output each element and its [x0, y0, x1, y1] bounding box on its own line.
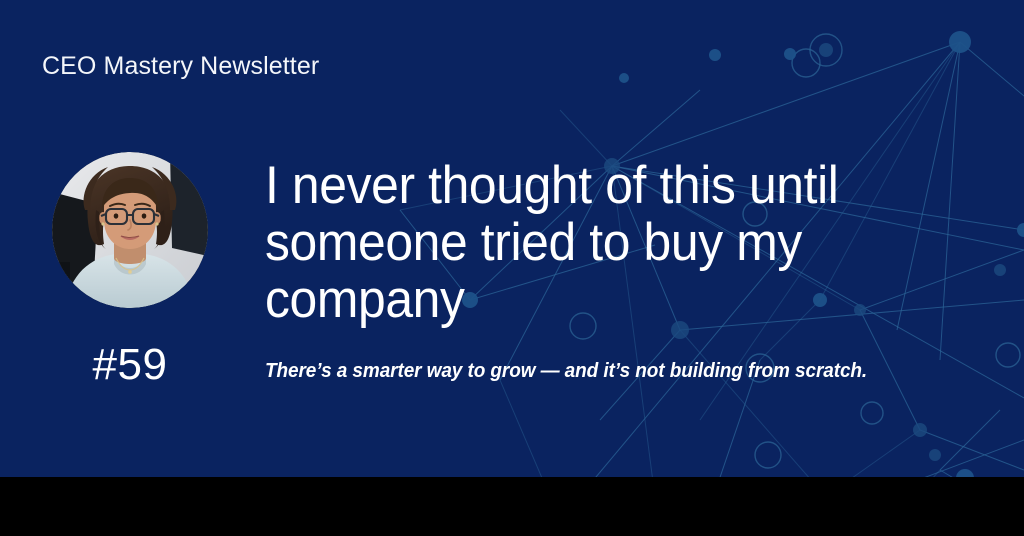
newsletter-title: CEO Mastery Newsletter [42, 52, 319, 81]
network-node [709, 49, 721, 61]
network-node [994, 264, 1006, 276]
network-line [940, 42, 960, 360]
network-node [913, 423, 927, 437]
footer-bar: surabhishenoy.com [0, 477, 1024, 536]
network-ring [996, 343, 1020, 367]
network-node [784, 48, 796, 60]
network-node [619, 73, 629, 83]
newsletter-banner: CEO Mastery Newsletter [0, 0, 1024, 536]
network-ring [755, 442, 781, 468]
network-line [960, 42, 1024, 96]
network-node [1017, 223, 1024, 237]
subtitle: There’s a smarter way to grow — and it’s… [265, 358, 930, 384]
network-ring [810, 34, 842, 66]
network-ring [792, 49, 820, 77]
network-line [920, 430, 1024, 470]
network-node [949, 31, 971, 53]
avatar [52, 152, 208, 308]
network-line [612, 90, 700, 166]
avatar-portrait-illustration [52, 152, 208, 308]
network-ring [861, 402, 883, 424]
network-line [612, 42, 960, 166]
headline: I never thought of this until someone tr… [265, 157, 914, 328]
issue-number: #59 [52, 340, 208, 390]
network-node [819, 43, 833, 57]
network-node [929, 449, 941, 461]
network-line [940, 410, 1000, 470]
